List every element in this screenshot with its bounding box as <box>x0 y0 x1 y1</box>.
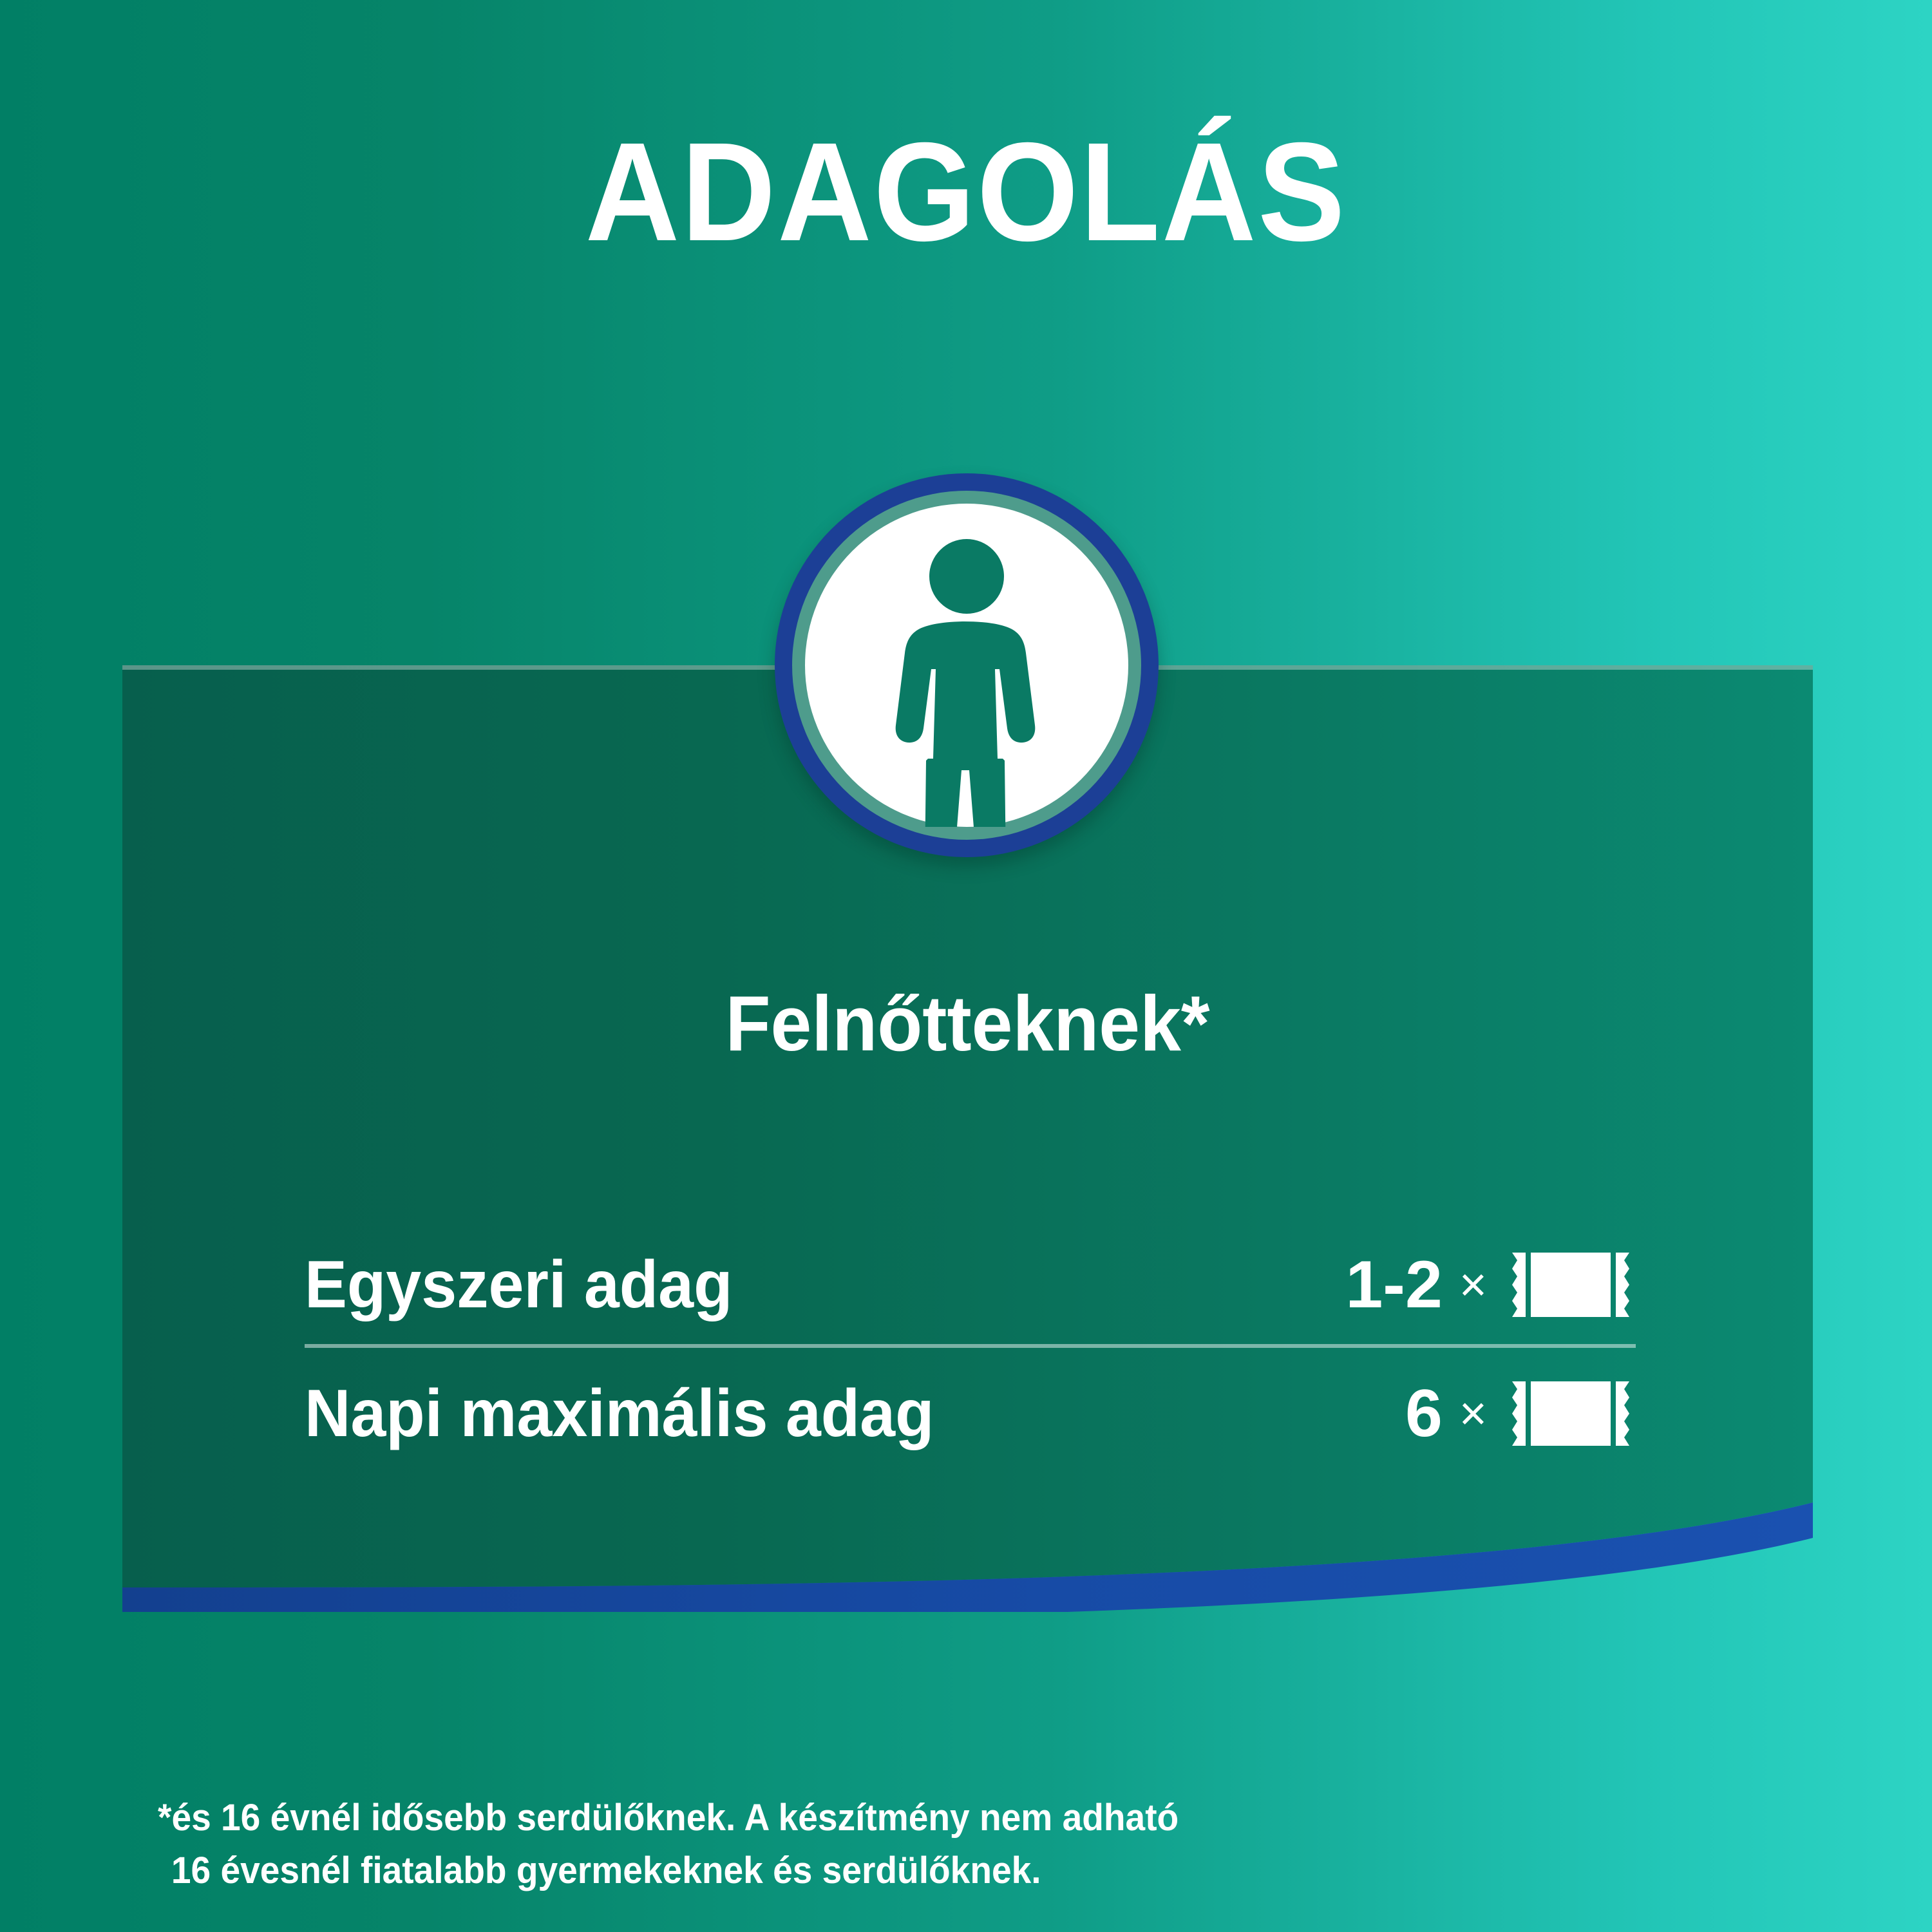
footnote-line-2: 16 évesnél fiatalabb gyermekeknek és ser… <box>158 1844 1443 1897</box>
dosage-infographic: ADAGOLÁS <box>0 0 1932 1932</box>
multiply-symbol: × <box>1459 1390 1487 1437</box>
dose-label: Egyszeri adag <box>305 1251 732 1318</box>
multiply-symbol: × <box>1459 1261 1487 1309</box>
audience-subtitle: Felnőtteknek* <box>173 984 1763 1063</box>
dose-label: Napi maximális adag <box>305 1380 934 1447</box>
dose-row: Napi maximális adag 6 × <box>305 1352 1638 1475</box>
dose-count: 6 <box>1405 1380 1443 1447</box>
adult-badge <box>775 473 1159 857</box>
sachet-icon <box>1509 1378 1638 1450</box>
dose-row: Egyszeri adag 1-2 × <box>305 1224 1638 1346</box>
sachet-icon <box>1509 1249 1638 1321</box>
page-title: ADAGOLÁS <box>68 122 1864 263</box>
footnote-line-1: *és 16 évnél idősebb serdülőknek. A kész… <box>158 1792 1443 1844</box>
adult-person-icon <box>805 504 1128 827</box>
footnote: *és 16 évnél idősebb serdülőknek. A kész… <box>158 1792 1443 1898</box>
dose-count: 1-2 <box>1345 1251 1442 1318</box>
